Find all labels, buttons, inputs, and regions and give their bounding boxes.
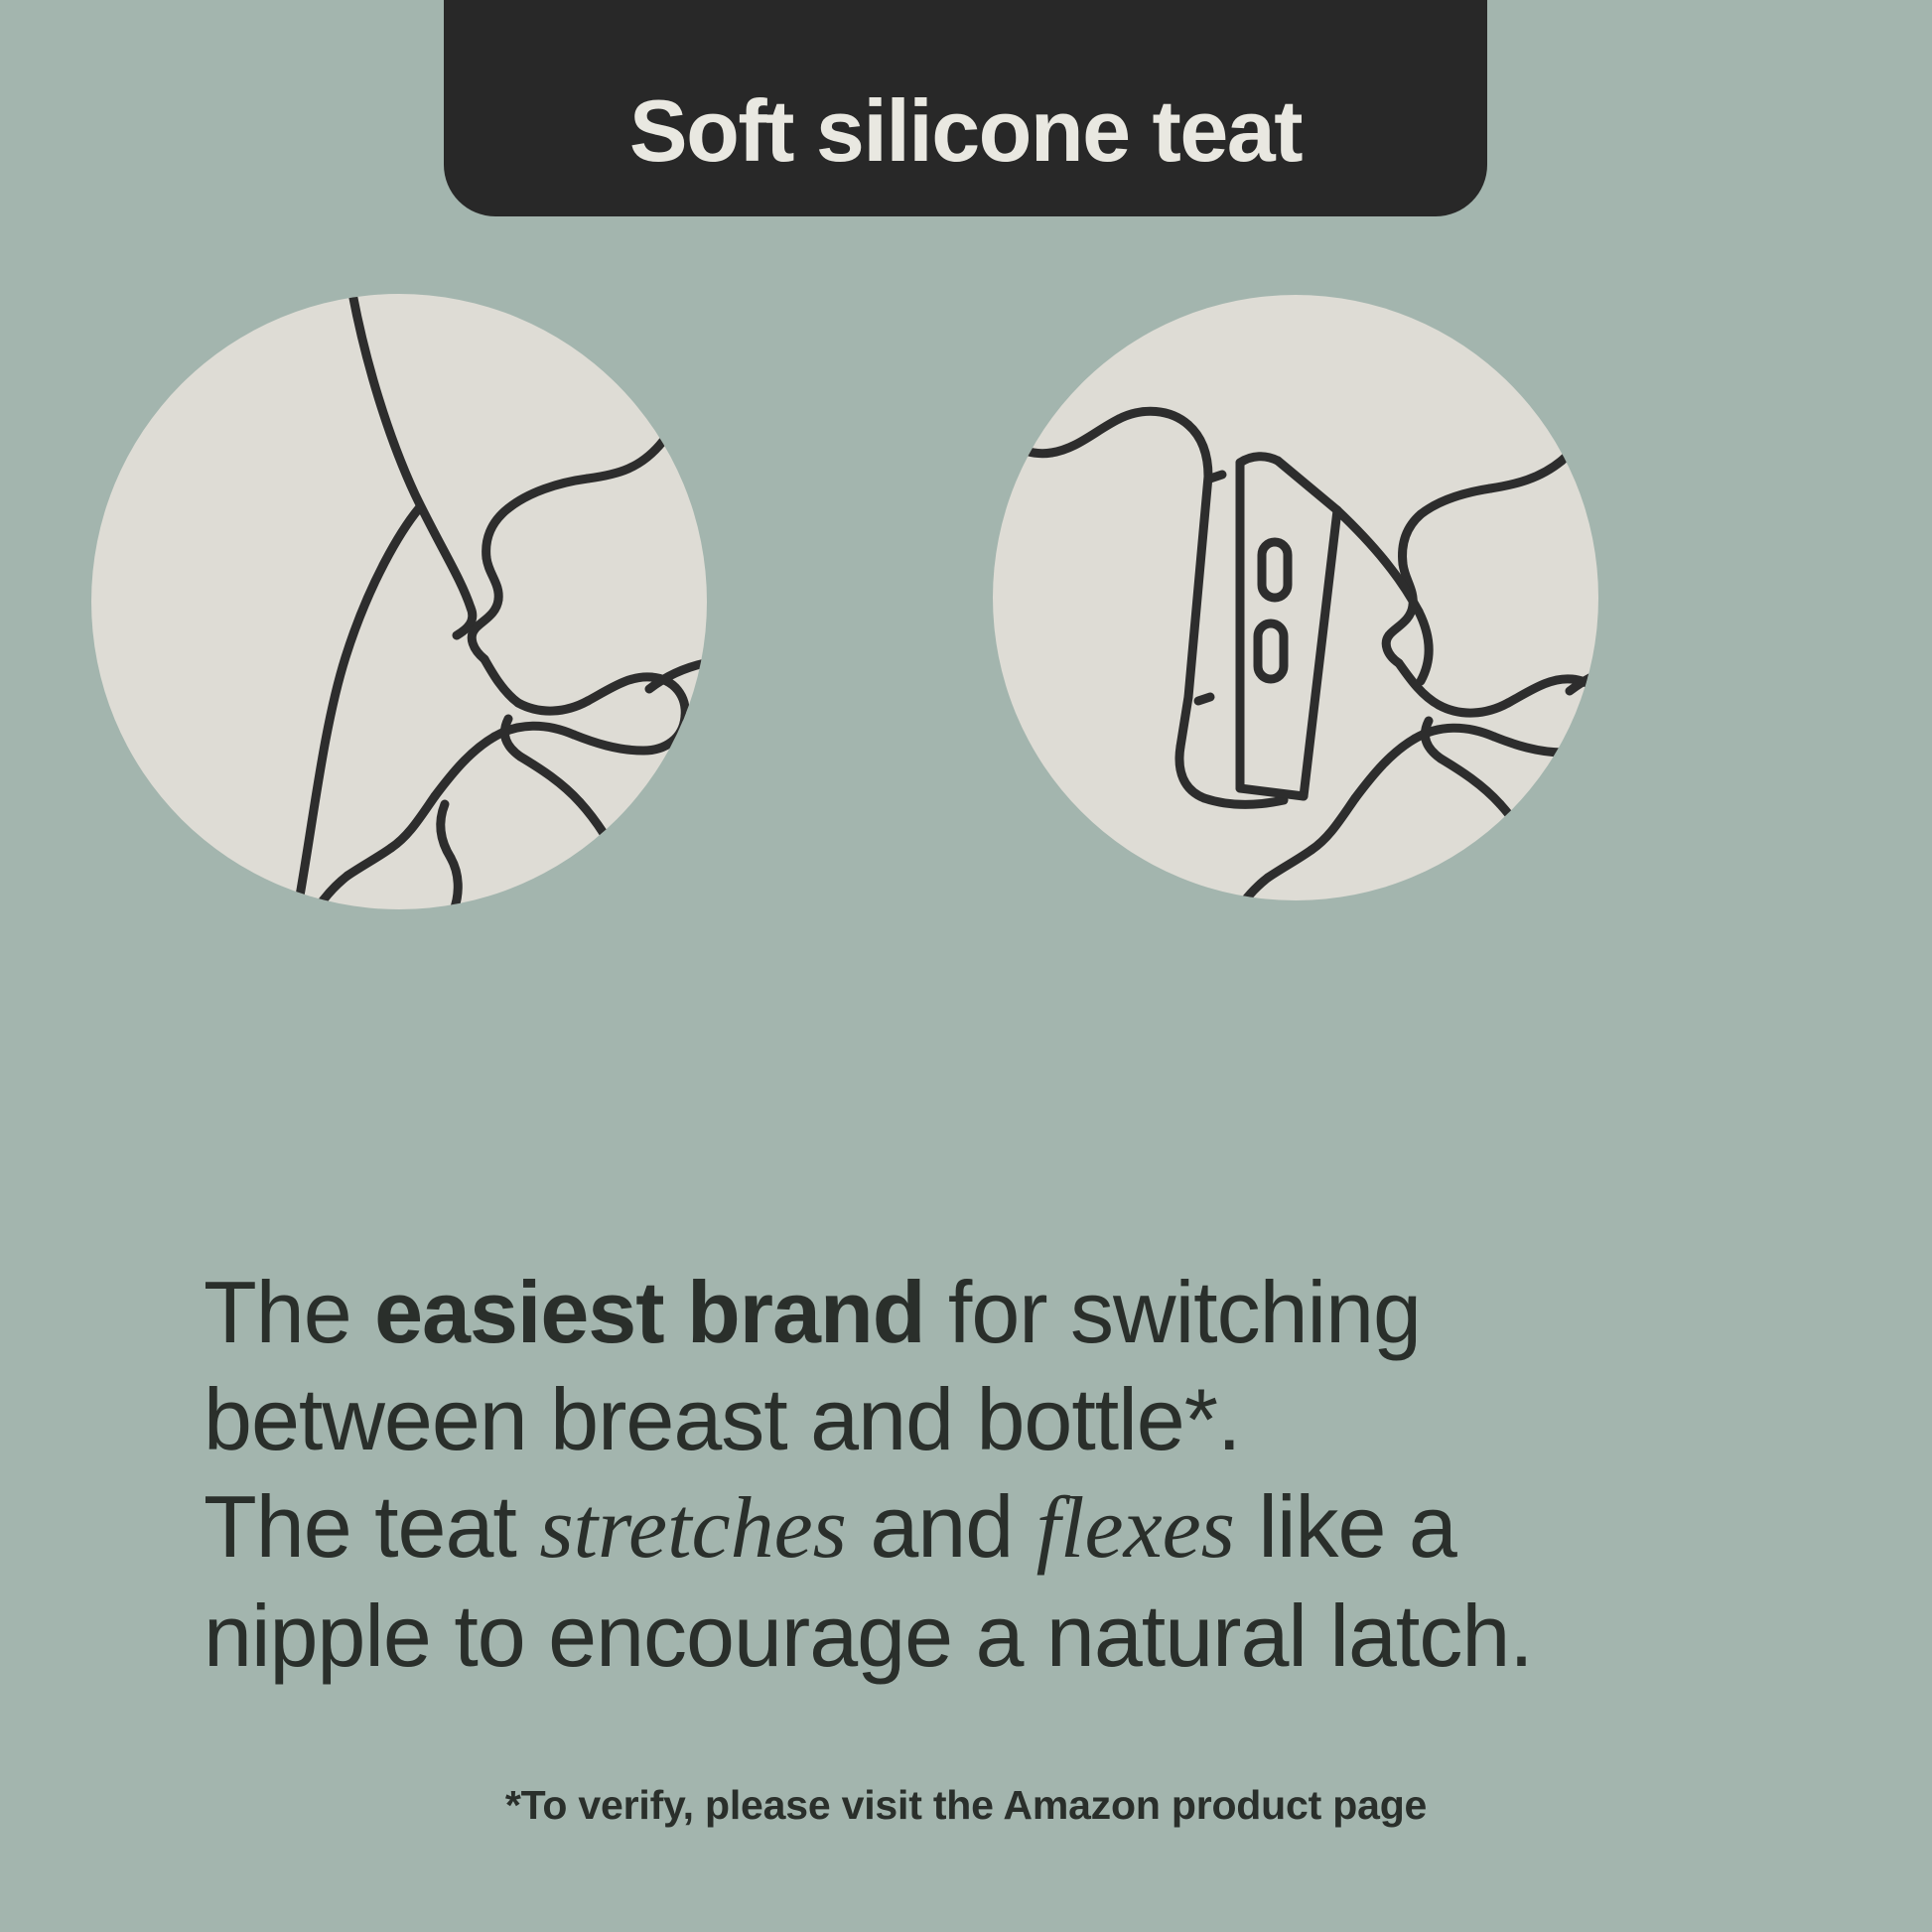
- copy-line-1-post: for switching: [924, 1263, 1421, 1361]
- copy-line-3-pre: The teat: [204, 1477, 539, 1576]
- copy-line-2: between breast and bottle*.: [204, 1366, 1752, 1473]
- copy-line-3-italic-flexes: flexes: [1036, 1480, 1235, 1577]
- page-title: Soft silicone teat: [629, 87, 1302, 175]
- illustration-circle-backdrop: [91, 294, 707, 909]
- breastfeeding-illustration: [91, 280, 707, 940]
- copy-line-3-italic-stretches: stretches: [539, 1480, 847, 1577]
- copy-line-3: The teat stretches and flexes like a: [204, 1473, 1752, 1583]
- illustration-row: [0, 280, 1932, 935]
- copy-line-3-mid: and: [847, 1477, 1036, 1576]
- promo-card: Soft silicone teat: [0, 0, 1932, 1932]
- copy-line-1: The easiest brand for switching: [204, 1259, 1752, 1366]
- body-copy: The easiest brand for switching between …: [204, 1259, 1752, 1690]
- copy-line-4: nipple to encourage a natural latch.: [204, 1583, 1752, 1690]
- copy-line-3-post: like a: [1235, 1477, 1456, 1576]
- copy-line-1-pre: The: [204, 1263, 374, 1361]
- footnote: *To verify, please visit the Amazon prod…: [0, 1782, 1932, 1829]
- bottle-teat-illustration: [839, 280, 1842, 940]
- header-banner: Soft silicone teat: [444, 0, 1487, 216]
- copy-line-1-bold: easiest brand: [374, 1263, 924, 1361]
